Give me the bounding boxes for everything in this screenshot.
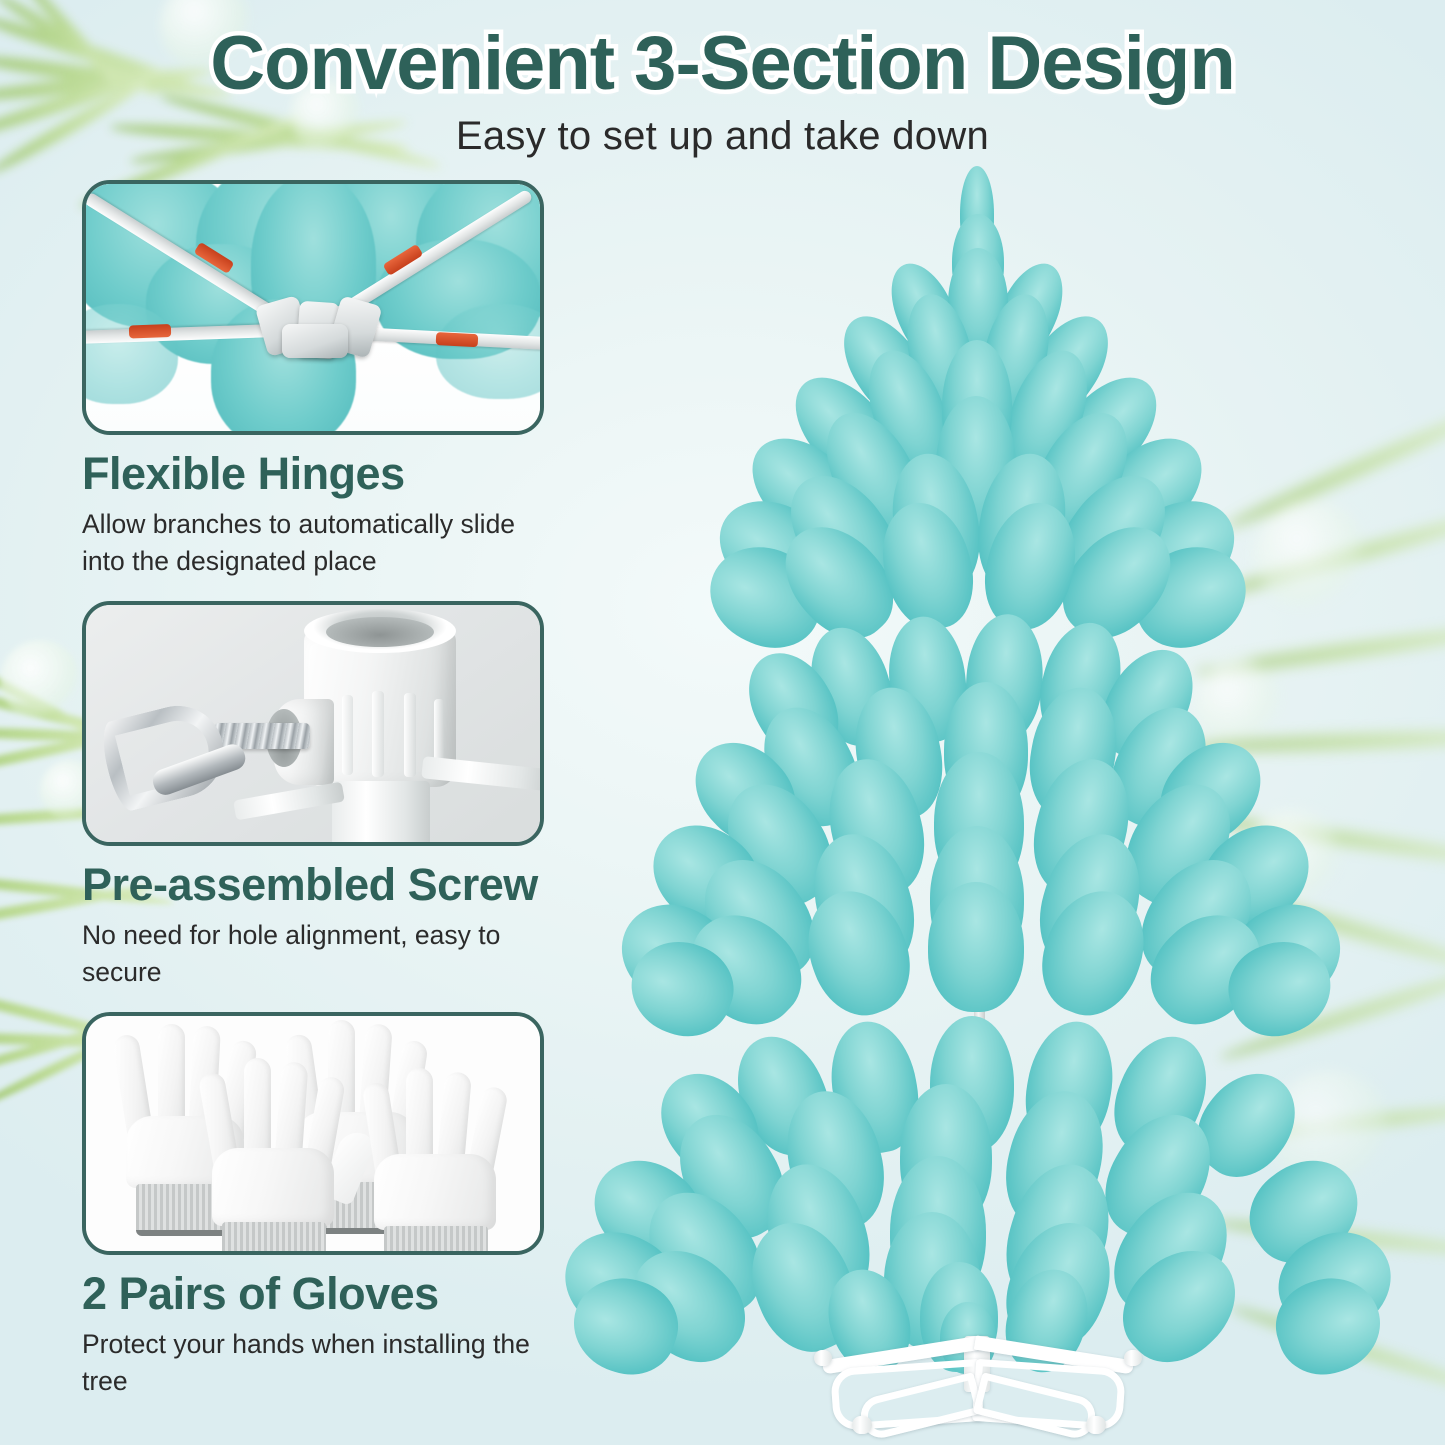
- feature-gloves: 2 Pairs of Gloves Protect your hands whe…: [82, 1012, 544, 1399]
- pre-assembled-screw-photo: [82, 601, 544, 846]
- middle-section: [600, 630, 1360, 1050]
- feature-title: Flexible Hinges: [82, 451, 544, 496]
- feature-description: No need for hole alignment, easy to secu…: [82, 917, 544, 990]
- feature-description: Protect your hands when installing the t…: [82, 1326, 544, 1399]
- three-section-artificial-christmas-tree: [600, 160, 1360, 1430]
- feature-pre-assembled-screw: Pre-assembled Screw No need for hole ali…: [82, 601, 544, 990]
- feature-title: 2 Pairs of Gloves: [82, 1271, 544, 1316]
- feature-flexible-hinges: Flexible Hinges Allow branches to automa…: [82, 180, 544, 579]
- flexible-hinges-photo: [82, 180, 544, 435]
- page-subtitle: Easy to set up and take down: [0, 114, 1445, 159]
- tree-stand: [600, 1340, 1360, 1445]
- infographic-page: Convenient 3-Section Design Easy to set …: [0, 0, 1445, 1445]
- feature-description: Allow branches to automatically slide in…: [82, 506, 544, 579]
- gloves-photo: [82, 1012, 544, 1255]
- page-title: Convenient 3-Section Design: [0, 24, 1445, 104]
- top-section: [600, 160, 1360, 630]
- feature-title: Pre-assembled Screw: [82, 862, 544, 907]
- feature-list: Flexible Hinges Allow branches to automa…: [82, 180, 544, 1421]
- header: Convenient 3-Section Design Easy to set …: [0, 24, 1445, 159]
